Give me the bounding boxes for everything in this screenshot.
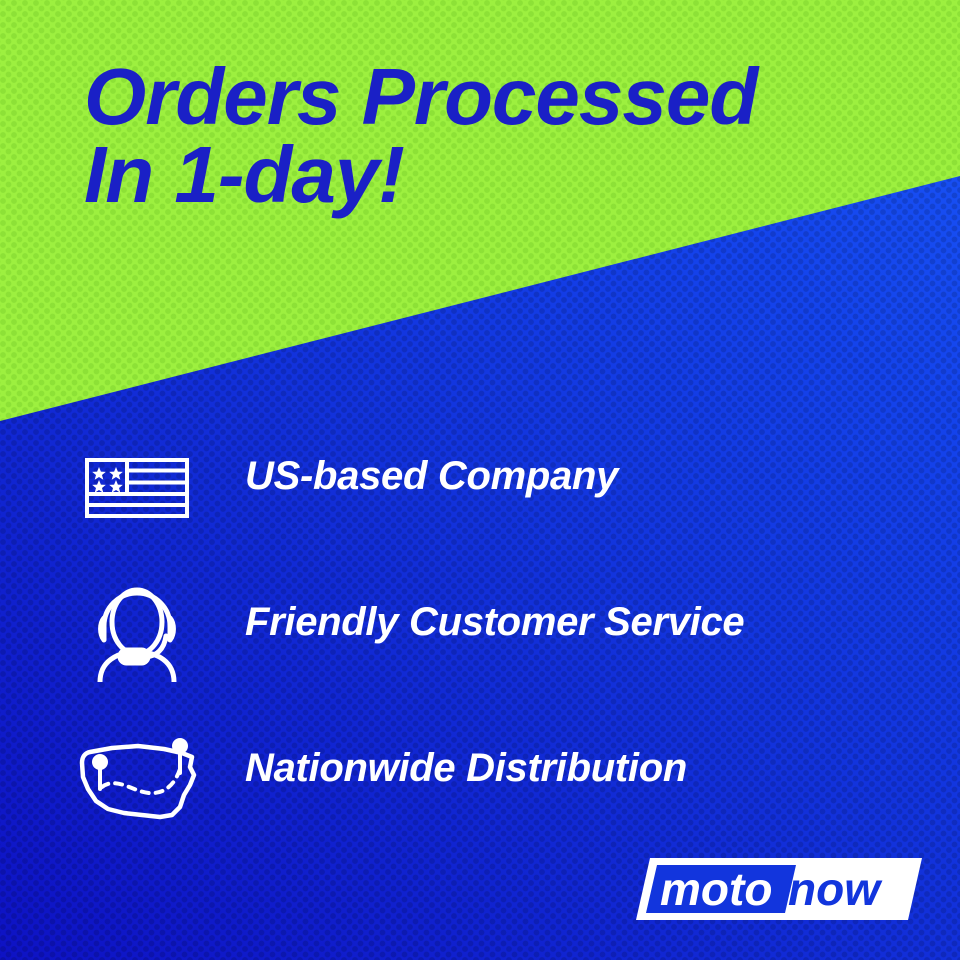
feature-row-us-based-company: US-based Company <box>0 440 960 586</box>
feature-label-us-based-company: US-based Company <box>245 454 618 499</box>
feature-row-friendly-customer-service: Friendly Customer Service <box>0 586 960 732</box>
motonow-logo: moto now <box>636 856 922 922</box>
promotional-banner: Orders Processed In 1-day! <box>0 0 960 960</box>
us-map-route-pins-icon <box>72 732 202 828</box>
logo-text-moto: moto <box>660 863 772 915</box>
logo-text-now: now <box>788 863 883 915</box>
us-flag-icon <box>72 440 202 536</box>
headline: Orders Processed In 1-day! <box>84 58 934 215</box>
headset-support-agent-icon <box>72 586 202 682</box>
feature-label-nationwide-distribution: Nationwide Distribution <box>245 746 687 791</box>
feature-list: US-based Company <box>0 440 960 878</box>
feature-label-friendly-customer-service: Friendly Customer Service <box>245 600 744 645</box>
